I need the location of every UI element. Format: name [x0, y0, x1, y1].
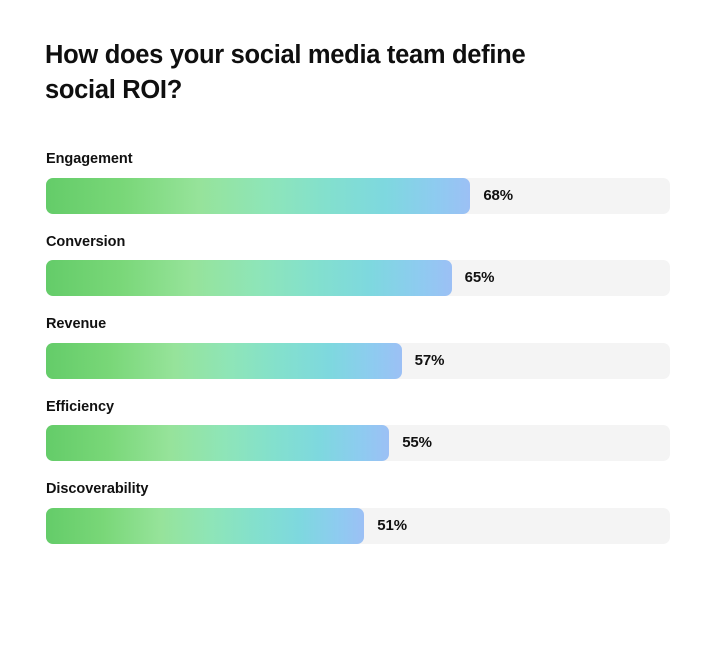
bar-list: Engagement 68% Conversion 65% Revenue 57…	[46, 152, 670, 544]
bar-fill-discoverability	[46, 508, 364, 544]
bar-track-revenue: 57%	[46, 343, 670, 379]
bar-label-engagement: Engagement	[46, 152, 670, 167]
bar-value-conversion: 65%	[465, 260, 495, 296]
bar-label-discoverability: Discoverability	[46, 482, 670, 497]
bar-fill-engagement	[46, 178, 470, 214]
bar-row: Discoverability 51%	[46, 482, 670, 544]
bar-label-revenue: Revenue	[46, 317, 670, 332]
bar-track-efficiency: 55%	[46, 425, 670, 461]
bar-fill-revenue	[46, 343, 402, 379]
bar-row: Conversion 65%	[46, 235, 670, 297]
bar-track-discoverability: 51%	[46, 508, 670, 544]
bar-fill-conversion	[46, 260, 452, 296]
bar-track-conversion: 65%	[46, 260, 670, 296]
bar-label-conversion: Conversion	[46, 235, 670, 250]
bar-value-revenue: 57%	[415, 343, 445, 379]
bar-fill-efficiency	[46, 425, 389, 461]
bar-value-discoverability: 51%	[377, 508, 407, 544]
chart-canvas: How does your social media team define s…	[0, 0, 726, 646]
bar-value-engagement: 68%	[483, 178, 513, 214]
bar-label-efficiency: Efficiency	[46, 400, 670, 415]
bar-row: Revenue 57%	[46, 317, 670, 379]
bar-value-efficiency: 55%	[402, 425, 432, 461]
chart-title: How does your social media team define s…	[45, 38, 645, 107]
bar-track-engagement: 68%	[46, 178, 670, 214]
bar-row: Efficiency 55%	[46, 400, 670, 462]
bar-row: Engagement 68%	[46, 152, 670, 214]
